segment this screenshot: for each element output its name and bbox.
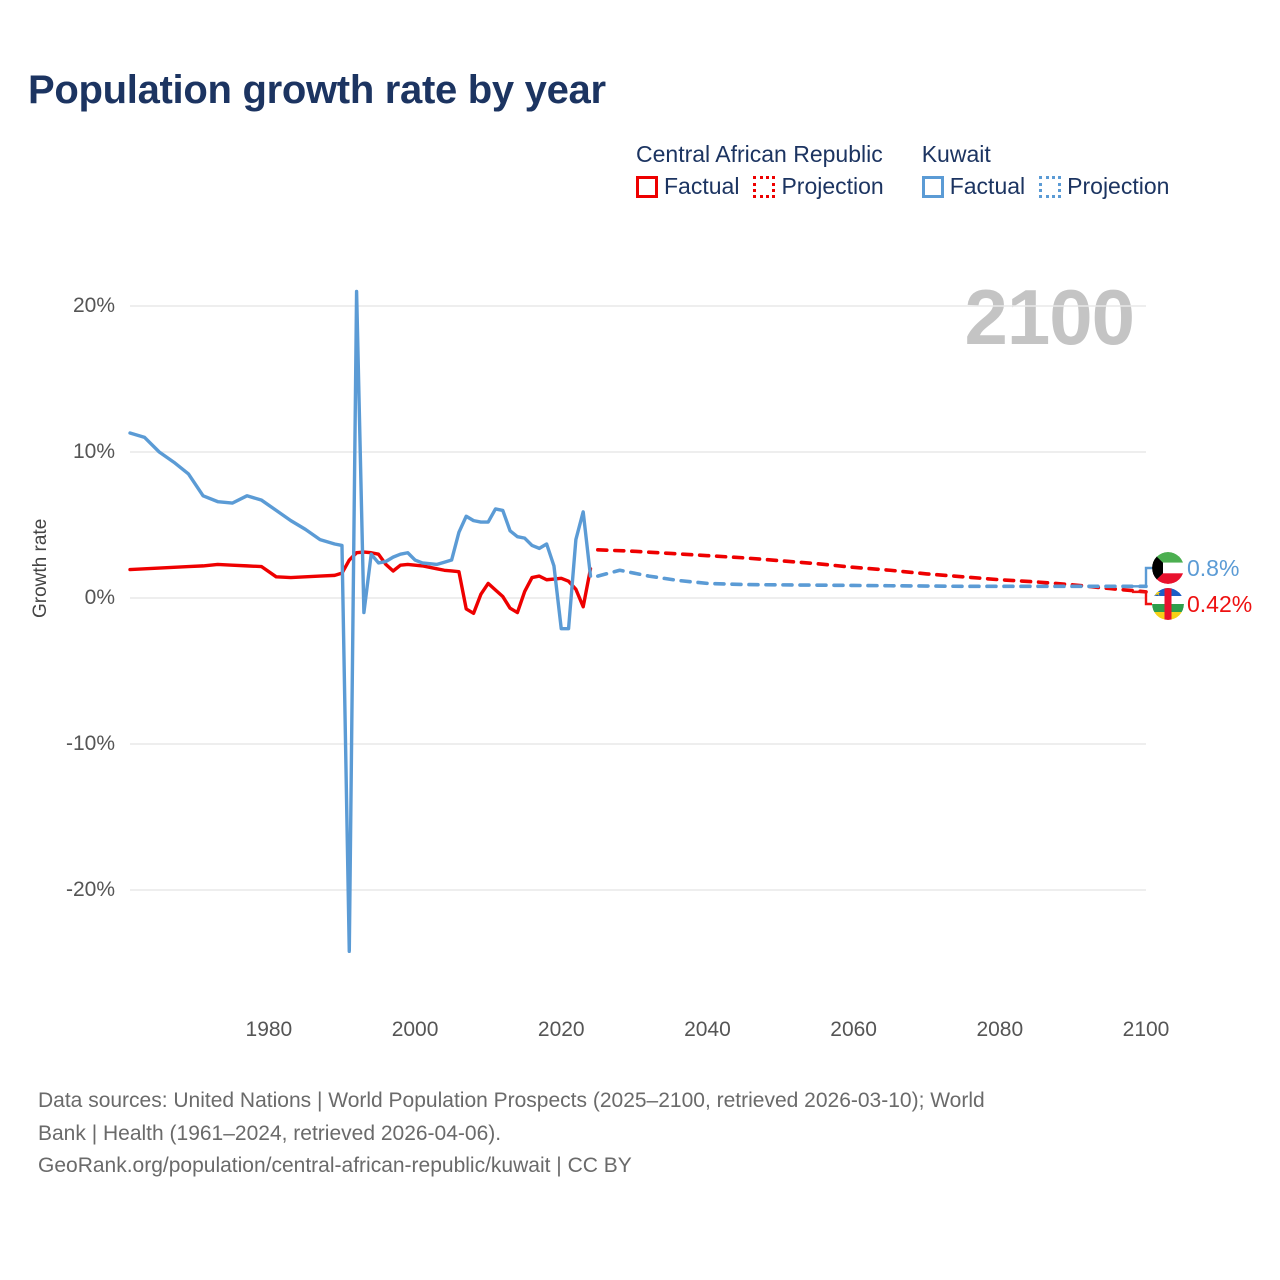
legend-country-label: Kuwait	[922, 142, 1170, 167]
series-line-kuwait-projection	[598, 570, 1146, 586]
leader-line-kuwait	[1132, 568, 1152, 586]
end-label-value: 0.42%	[1187, 591, 1252, 618]
leader-line-central-african-republic	[1132, 592, 1152, 604]
legend-swatch-solid-icon	[636, 176, 658, 198]
page-title: Population growth rate by year	[28, 68, 606, 113]
chart-legend: Central African Republic Factual Project…	[636, 142, 1169, 200]
y-axis-tick-label: 0%	[20, 586, 115, 610]
x-axis-tick-label: 2040	[684, 1018, 731, 1042]
legend-items: Factual Projection	[636, 173, 884, 200]
legend-item-label: Projection	[781, 173, 883, 200]
y-axis-tick-label: -10%	[20, 732, 115, 756]
x-axis-tick-label: 2000	[392, 1018, 439, 1042]
x-axis-tick-label: 2080	[976, 1018, 1023, 1042]
end-label-value: 0.8%	[1187, 555, 1239, 582]
x-axis-tick-label: 2100	[1123, 1018, 1170, 1042]
legend-swatch-dotted-icon	[753, 176, 775, 198]
footer-line-2: Bank | Health (1961–2024, retrieved 2026…	[38, 1118, 1238, 1151]
x-axis-tick-label: 2060	[830, 1018, 877, 1042]
kuwait-flag-icon	[1152, 552, 1184, 584]
footer-line-3: GeoRank.org/population/central-african-r…	[38, 1150, 1238, 1183]
end-label-central-african-republic[interactable]: 0.42%	[1152, 588, 1252, 620]
x-axis-tick-label: 1980	[246, 1018, 293, 1042]
footer-sources: Data sources: United Nations | World Pop…	[38, 1085, 1238, 1183]
legend-items: Factual Projection	[922, 173, 1170, 200]
legend-group-car: Central African Republic Factual Project…	[636, 142, 884, 200]
legend-item-car-factual[interactable]: Factual	[636, 173, 739, 200]
legend-item-kuwait-projection[interactable]: Projection	[1039, 173, 1169, 200]
series-line-kuwait-factual	[130, 291, 590, 951]
legend-swatch-dotted-icon	[1039, 176, 1061, 198]
series-line-central-african-republic-projection	[598, 550, 1146, 592]
series-line-central-african-republic-factual	[130, 552, 590, 613]
legend-swatch-solid-icon	[922, 176, 944, 198]
y-axis-tick-label: 20%	[20, 294, 115, 318]
legend-item-kuwait-factual[interactable]: Factual	[922, 173, 1025, 200]
y-axis-tick-label: 10%	[20, 440, 115, 464]
footer-line-1: Data sources: United Nations | World Pop…	[38, 1085, 1238, 1118]
chart-root: Population growth rate by year Central A…	[0, 0, 1280, 1280]
legend-item-label: Factual	[950, 173, 1025, 200]
legend-item-car-projection[interactable]: Projection	[753, 173, 883, 200]
x-axis-tick-label: 2020	[538, 1018, 585, 1042]
end-label-kuwait[interactable]: 0.8%	[1152, 552, 1239, 584]
y-axis-tick-label: -20%	[20, 878, 115, 902]
legend-item-label: Factual	[664, 173, 739, 200]
legend-item-label: Projection	[1067, 173, 1169, 200]
watermark-year: 2100	[964, 278, 1134, 356]
central-african-republic-flag-icon	[1152, 588, 1184, 620]
legend-country-label: Central African Republic	[636, 142, 884, 167]
legend-group-kuwait: Kuwait Factual Projection	[922, 142, 1170, 200]
